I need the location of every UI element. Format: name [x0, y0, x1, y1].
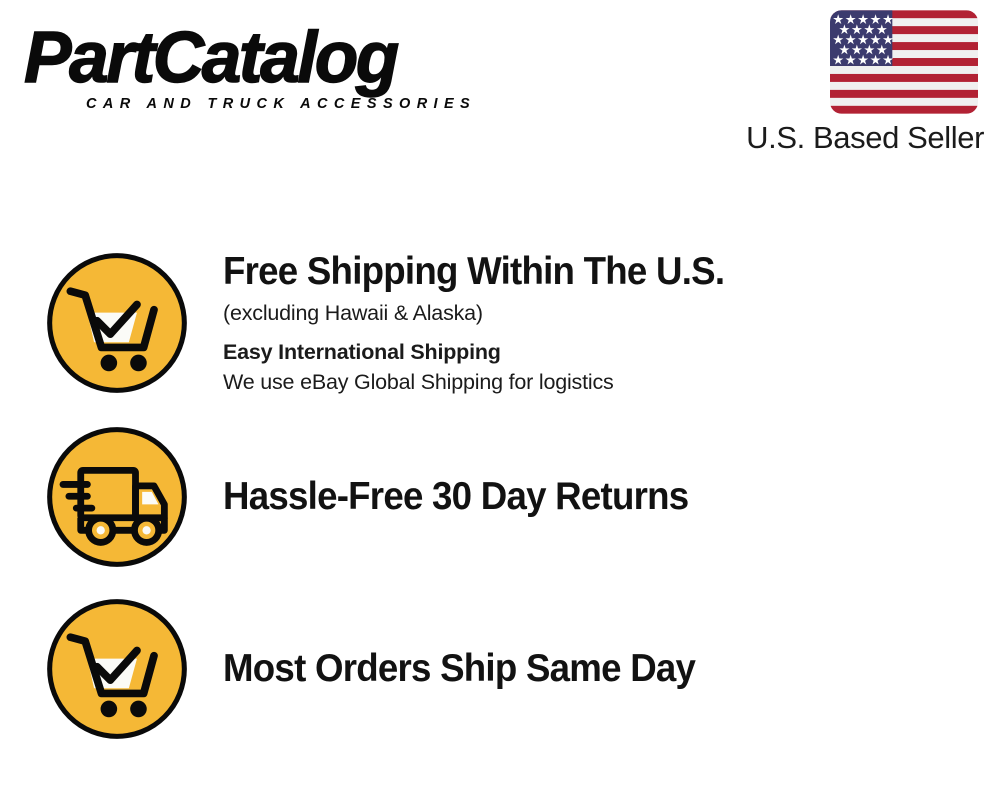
seller-badge: U.S. Based Seller	[718, 10, 988, 156]
feature-row: Free Shipping Within The U.S. (excluding…	[0, 235, 1000, 411]
feature-subline: (excluding Hawaii & Alaska)	[223, 298, 980, 328]
feature-heading: Free Shipping Within The U.S.	[223, 250, 935, 294]
feature-text: Hassle-Free 30 Day Returns	[223, 475, 1000, 519]
feature-row: Hassle-Free 30 Day Returns	[0, 411, 1000, 583]
brand-wordmark: PartCatalog	[24, 22, 489, 94]
delivery-truck-icon	[43, 423, 191, 571]
feature-text: Most Orders Ship Same Day	[223, 647, 1000, 691]
banner-header: PartCatalog CAR AND TRUCK ACCESSORIES	[0, 0, 1000, 170]
feature-heading: Hassle-Free 30 Day Returns	[223, 475, 935, 519]
shopping-cart-check-icon	[43, 595, 191, 743]
us-flag-icon	[830, 10, 978, 114]
seller-badge-label: U.S. Based Seller	[718, 120, 984, 156]
partcatalog-logo: PartCatalog CAR AND TRUCK ACCESSORIES	[24, 22, 494, 117]
feature-text: Free Shipping Within The U.S. (excluding…	[223, 250, 1000, 397]
feature-heading: Most Orders Ship Same Day	[223, 647, 935, 691]
feature-row: Most Orders Ship Same Day	[0, 583, 1000, 755]
promo-banner: PartCatalog CAR AND TRUCK ACCESSORIES	[0, 0, 1000, 800]
shopping-cart-check-icon	[43, 249, 191, 397]
brand-tagline: CAR AND TRUCK ACCESSORIES	[86, 96, 476, 112]
feature-subline: Easy International Shipping	[223, 337, 980, 367]
feature-subline: We use eBay Global Shipping for logistic…	[223, 367, 980, 397]
